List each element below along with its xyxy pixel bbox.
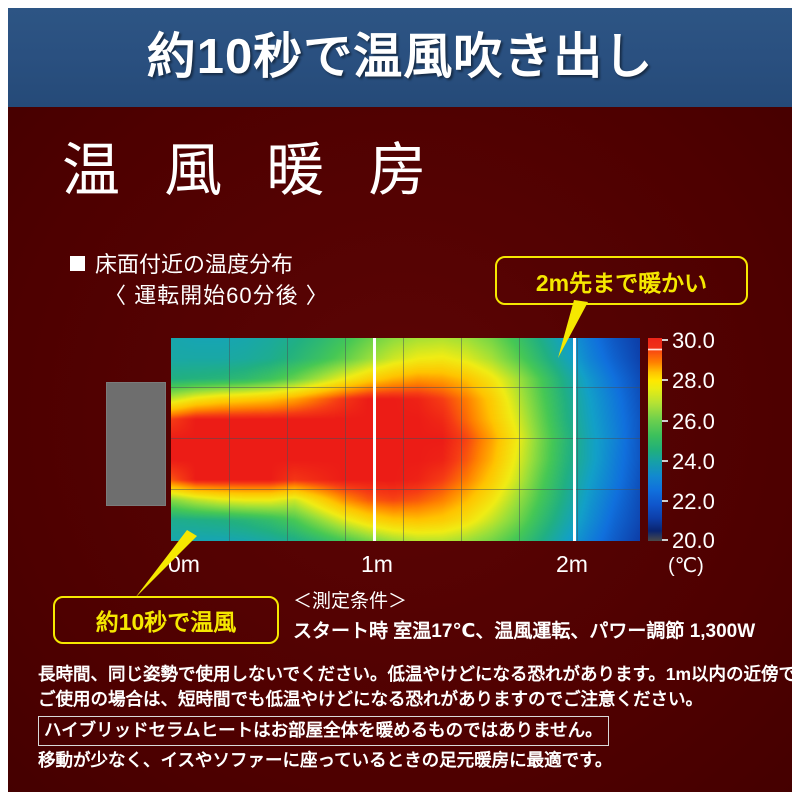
heatmap-gridline-v <box>403 338 404 541</box>
heatmap-canvas <box>171 338 640 541</box>
note-line-1: 長時間、同じ姿勢で使用しないでください。低温やけどになる恐れがあります。1m以内… <box>38 662 768 687</box>
conditions-title: ＜測定条件＞ <box>293 592 407 611</box>
section-heading-label: 床面付近の温度分布 <box>95 252 293 277</box>
colorbar-label-22: 22.0 <box>672 491 715 513</box>
colorbar-tick <box>662 420 668 422</box>
colorbar-tick <box>662 339 668 341</box>
heatmap-gridline-v <box>287 338 288 541</box>
section-subheading: 〈 運転開始60分後 〉 <box>104 281 329 311</box>
callout-bottom: 約10秒で温風 <box>53 596 279 644</box>
header-title: 約10秒で温風吹き出し <box>147 33 654 82</box>
heatmap-gridline-v <box>461 338 462 541</box>
temperature-heatmap <box>171 338 640 541</box>
heatmap-gridline-h <box>171 489 640 490</box>
note-line-3: 移動が少なく、イスやソファーに座っているときの足元暖房に最適です。 <box>38 748 768 773</box>
page-title: 温 風 暖 房 <box>62 142 440 200</box>
bullet-square-icon <box>70 256 85 271</box>
conditions-line: スタート時 室温17℃、温風運転、パワー調節 1,300W <box>293 622 755 641</box>
axis-tick-1m: 1m <box>361 553 393 576</box>
colorbar-tick <box>662 500 668 502</box>
colorbar-unit-label: (℃) <box>668 556 704 576</box>
colorbar-tick <box>662 379 668 381</box>
colorbar-tick <box>662 460 668 462</box>
colorbar-label-28: 28.0 <box>672 370 715 392</box>
colorbar-gradient <box>648 338 662 541</box>
heater-device-rect <box>106 382 166 506</box>
colorbar-label-24: 24.0 <box>672 451 715 473</box>
heatmap-marker-2m <box>573 338 576 541</box>
heatmap-gridline-v <box>519 338 520 541</box>
heatmap-gridline-h <box>171 438 640 439</box>
heatmap-marker-1m <box>373 338 376 541</box>
colorbar-label-20: 20.0 <box>672 530 715 552</box>
callout-top-label: 2m先まで暖かい <box>536 264 707 298</box>
heatmap-gridline-v <box>345 338 346 541</box>
axis-tick-0m: 0m <box>168 553 200 576</box>
header-banner: 約10秒で温風吹き出し <box>8 8 792 107</box>
product-feature-panel: 約10秒で温風吹き出し 温 風 暖 房 床面付近の温度分布 〈 運転開始60分後… <box>0 0 800 800</box>
colorbar-label-26: 26.0 <box>672 411 715 433</box>
colorbar-label-30: 30.0 <box>672 330 715 352</box>
callout-top: 2m先まで暖かい <box>495 256 748 305</box>
note-line-2: ご使用の場合は、短時間でも低温やけどになる恐れがありますのでご注意ください。 <box>38 687 768 712</box>
footer-notes: 長時間、同じ姿勢で使用しないでください。低温やけどになる恐れがあります。1m以内… <box>38 662 768 773</box>
heatmap-gridline-v <box>577 338 578 541</box>
section-heading: 床面付近の温度分布 <box>70 250 293 280</box>
axis-tick-2m: 2m <box>556 553 588 576</box>
heatmap-gridline-v <box>229 338 230 541</box>
note-boxed: ハイブリッドセラムヒートはお部屋全体を暖めるものではありません。 <box>38 716 609 746</box>
callout-bottom-label: 約10秒で温風 <box>96 603 237 637</box>
heatmap-gridline-h <box>171 387 640 388</box>
colorbar-tick <box>662 539 668 541</box>
